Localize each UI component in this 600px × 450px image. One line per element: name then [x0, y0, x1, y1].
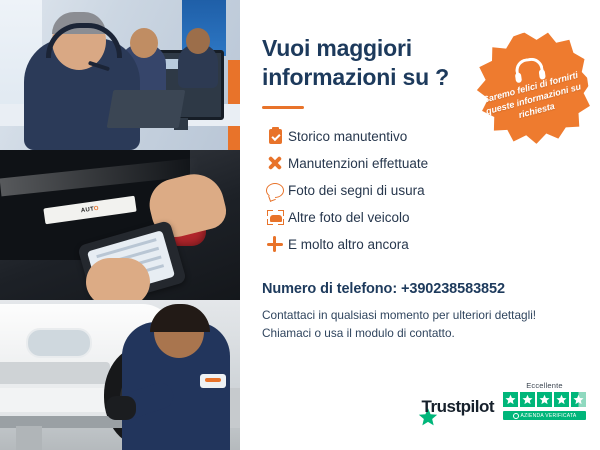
phone-line: Numero di telefono: +390238583852: [262, 281, 574, 297]
trustpilot-logo: Trustpilot: [418, 397, 494, 420]
feature-label: E molto altro ancora: [288, 237, 409, 252]
star-rating: [503, 392, 586, 407]
list-item: Manutenzioni effettuate: [262, 150, 574, 177]
verified-badge-label: AZIENDA VERIFICATA: [521, 413, 577, 419]
trustpilot-wordmark: Trustpilot: [422, 397, 494, 417]
headset-icon: [514, 57, 545, 81]
title-divider: [262, 106, 304, 109]
photo-technician-measuring-car-paint-with-tablet: AUTO: [0, 150, 240, 300]
feature-label: Altre foto del veicolo: [288, 210, 410, 225]
star-icon: [554, 392, 569, 407]
verified-company-badge: AZIENDA VERIFICATA: [503, 411, 586, 420]
phone-label: Numero di telefono:: [262, 281, 397, 297]
trustpilot-rating-label: Eccellente: [526, 381, 563, 390]
list-item: Foto dei segni di usura: [262, 177, 574, 204]
photo-strip-brand: AUTO: [81, 206, 100, 214]
contact-line-1: Contattaci in qualsiasi momento per ulte…: [262, 306, 574, 324]
advertisement-banner: AUTO Saremo felici di fornirti queste in…: [0, 0, 600, 450]
star-icon: [503, 392, 518, 407]
car-frame-icon: [262, 210, 288, 225]
star-icon-half: [571, 392, 586, 407]
clipboard-check-icon: [262, 129, 288, 144]
feature-list: Storico manutentivo Manutenzioni effettu…: [262, 123, 574, 258]
phone-number[interactable]: +390238583852: [401, 281, 505, 297]
trustpilot-rating: Eccellente AZIENDA VERIFICATA: [503, 381, 586, 420]
verified-check-icon: [513, 413, 519, 419]
cross-wrench-icon: [262, 155, 288, 171]
speech-bubble-icon: [262, 183, 288, 198]
photo-column: AUTO: [0, 0, 240, 450]
contact-line-2: Chiamaci o usa il modulo di contatto.: [262, 324, 574, 342]
feature-label: Foto dei segni di usura: [288, 183, 425, 198]
feature-label: Storico manutentivo: [288, 129, 407, 144]
list-item: E molto altro ancora: [262, 231, 574, 258]
photo-mechanic-inspecting-white-car-wheel-on-lift: [0, 300, 240, 450]
feature-label: Manutenzioni effettuate: [288, 156, 428, 171]
contact-instructions: Contattaci in qualsiasi momento per ulte…: [262, 306, 574, 343]
page-title: Vuoi maggiori informazioni su ?: [262, 34, 477, 93]
star-icon: [537, 392, 552, 407]
star-icon: [520, 392, 535, 407]
list-item: Altre foto del veicolo: [262, 204, 574, 231]
content-panel: Saremo felici di fornirti queste informa…: [240, 0, 600, 450]
trustpilot-widget[interactable]: Trustpilot Eccellente AZIENDA VERIFICATA: [418, 381, 586, 420]
plus-icon: [262, 236, 288, 252]
photo-call-center-agents-with-headsets: [0, 0, 240, 150]
